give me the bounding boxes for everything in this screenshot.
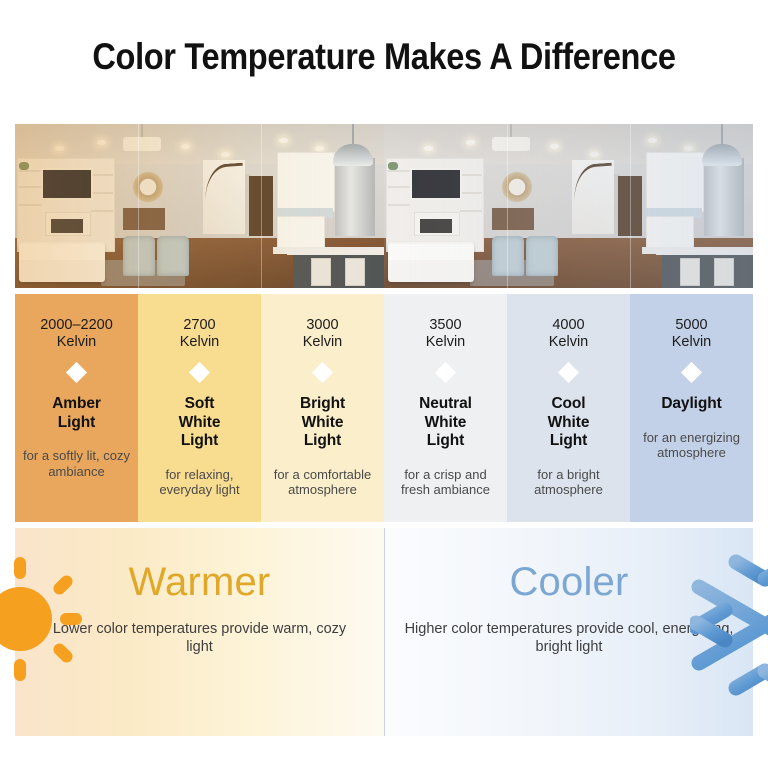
interior-photo-strip [15, 124, 753, 288]
temperature-column-daylight[interactable]: 5000 Kelvin Daylight for an energizing a… [630, 294, 753, 522]
kelvin-unit: Kelvin [549, 334, 589, 350]
diamond-separator-icon [189, 362, 210, 383]
kelvin-value: 2700 Kelvin [180, 317, 220, 351]
light-description: for a bright atmosphere [507, 467, 630, 498]
kelvin-number: 4000 [552, 317, 584, 333]
warm-lit-interior-photo [15, 124, 384, 288]
kelvin-value: 4000 Kelvin [549, 317, 589, 351]
snowflake-icon [690, 545, 768, 705]
light-description: for a crisp and fresh ambiance [384, 467, 507, 498]
kelvin-unit: Kelvin [426, 334, 466, 350]
color-temperature-columns: 2000–2200 Kelvin Amber Light for a softl… [15, 294, 753, 522]
light-description: for an energizing atmosphere [630, 430, 753, 461]
interior-scene-cool [384, 124, 753, 288]
kelvin-number: 2000–2200 [40, 317, 113, 333]
kelvin-number: 5000 [675, 317, 707, 333]
sun-icon [0, 557, 82, 681]
warm-cool-summary-panel: Warmer Lower color temperatures provide … [15, 528, 753, 736]
kelvin-unit: Kelvin [57, 334, 97, 350]
light-name: Cool White Light [548, 395, 590, 451]
kelvin-unit: Kelvin [303, 334, 343, 350]
kelvin-number: 3000 [306, 317, 338, 333]
light-name: Daylight [661, 395, 721, 414]
light-name: Amber Light [52, 395, 101, 432]
diamond-separator-icon [558, 362, 579, 383]
diamond-separator-icon [312, 362, 333, 383]
light-description: for relaxing, everyday light [138, 467, 261, 498]
temperature-column-amber-light[interactable]: 2000–2200 Kelvin Amber Light for a softl… [15, 294, 138, 522]
kelvin-value: 5000 Kelvin [672, 317, 712, 351]
kelvin-value: 3500 Kelvin [426, 317, 466, 351]
temperature-column-soft-white-light[interactable]: 2700 Kelvin Soft White Light for relaxin… [138, 294, 261, 522]
diamond-separator-icon [435, 362, 456, 383]
temperature-column-neutral-white-light[interactable]: 3500 Kelvin Neutral White Light for a cr… [384, 294, 507, 522]
light-description: for a comfortable atmosphere [261, 467, 384, 498]
kelvin-number: 2700 [183, 317, 215, 333]
kelvin-unit: Kelvin [180, 334, 220, 350]
kelvin-value: 3000 Kelvin [303, 317, 343, 351]
light-name: Neutral White Light [419, 395, 472, 451]
light-description: for a softly lit, cozy ambiance [15, 448, 138, 479]
kelvin-value: 2000–2200 Kelvin [40, 317, 113, 351]
temperature-column-cool-white-light[interactable]: 4000 Kelvin Cool White Light for a brigh… [507, 294, 630, 522]
light-name: Bright White Light [300, 395, 345, 451]
temperature-column-bright-white-light[interactable]: 3000 Kelvin Bright White Light for a com… [261, 294, 384, 522]
diamond-separator-icon [681, 362, 702, 383]
light-name: Soft White Light [179, 395, 221, 451]
page-title: Color Temperature Makes A Difference [46, 36, 722, 78]
diamond-separator-icon [66, 362, 87, 383]
kelvin-number: 3500 [429, 317, 461, 333]
interior-scene-warm [15, 124, 384, 288]
kelvin-unit: Kelvin [672, 334, 712, 350]
cool-lit-interior-photo [384, 124, 753, 288]
